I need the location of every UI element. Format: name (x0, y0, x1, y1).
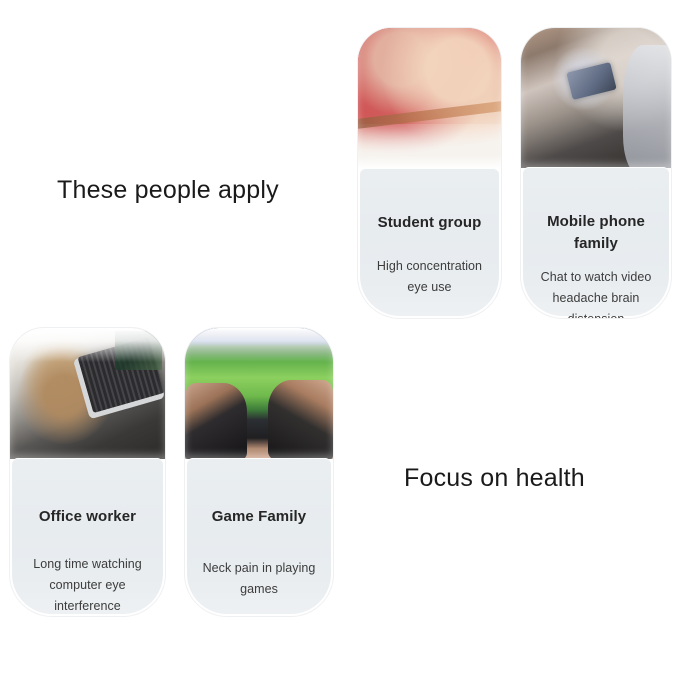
card-student-group-body: Student group High concentration eye use (360, 168, 499, 316)
card-student-group-title: Student group (360, 212, 499, 234)
caption-focus-on-health: Focus on health (404, 464, 585, 493)
card-office-worker-body: Office worker Long time watching compute… (12, 458, 163, 614)
card-game-family-body: Game Family Neck pain in playing games (187, 458, 331, 614)
card-office-worker-description: Long time watching computer eye interfer… (12, 554, 163, 616)
stressed-office-worker-photo (10, 328, 165, 459)
card-office-worker: Office worker Long time watching compute… (10, 328, 165, 616)
card-student-group: Student group High concentration eye use (358, 28, 501, 318)
card-game-family-description: Neck pain in playing games (187, 558, 331, 600)
card-game-family-title: Game Family (187, 506, 331, 528)
card-mobile-phone-family-body: Mobile phone family Chat to watch video … (523, 167, 669, 316)
caption-these-people-apply: These people apply (57, 176, 279, 205)
infographic-root: These people apply Focus on health Stude… (0, 0, 679, 679)
students-writing-photo (358, 28, 501, 169)
card-mobile-phone-family: Mobile phone family Chat to watch video … (521, 28, 671, 318)
card-mobile-phone-family-title: Mobile phone family (523, 211, 669, 255)
card-student-group-description: High concentration eye use (360, 256, 499, 298)
card-mobile-phone-family-description: Chat to watch video headache brain diste… (523, 267, 669, 318)
card-game-family: Game Family Neck pain in playing games (185, 328, 333, 616)
hands-holding-game-controllers-photo (185, 328, 333, 459)
card-office-worker-title: Office worker (12, 506, 163, 528)
person-using-phone-photo (521, 28, 671, 168)
